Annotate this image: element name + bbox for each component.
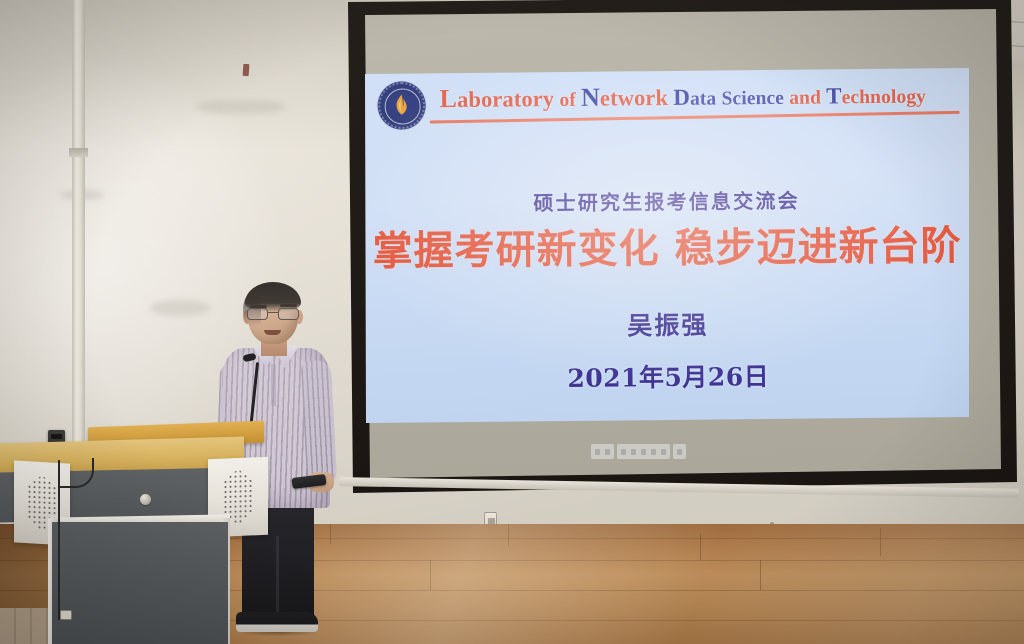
- podium-lock-knob[interactable]: [140, 494, 151, 505]
- podium-cable: [58, 460, 100, 620]
- slide-date: 2021年5月26日: [366, 355, 969, 397]
- ppt-toolbar-icon[interactable]: [631, 449, 636, 455]
- ppt-slideshow-toolbar[interactable]: [591, 444, 686, 459]
- ppt-toolbar-icon[interactable]: [641, 449, 646, 455]
- lab-header-word: Data: [673, 85, 716, 111]
- shirt-placket: [271, 364, 276, 406]
- lecture-hall-scene: Laboratory of Network Data Science and T…: [0, 0, 1024, 644]
- ppt-toolbar-icon[interactable]: [661, 449, 666, 455]
- ppt-toolbar-icon[interactable]: [605, 449, 610, 455]
- ppt-toolbar-group[interactable]: [617, 444, 670, 459]
- slide-title: 掌握考研新变化 稳步迈进新台阶: [365, 213, 969, 277]
- wall-red-mark: [243, 64, 250, 76]
- presenter-right-arm: [301, 359, 338, 486]
- presenter-brow-right: [280, 304, 297, 307]
- ppt-toolbar-icon[interactable]: [595, 449, 600, 455]
- conduit-joint: [69, 148, 88, 157]
- projection-screen[interactable]: Laboratory of Network Data Science and T…: [339, 0, 1019, 496]
- glasses-lens-left: [247, 308, 268, 320]
- cable-plug: [60, 610, 72, 620]
- ppt-toolbar-group[interactable]: [591, 444, 614, 459]
- slide-header: Laboratory of Network Data Science and T…: [365, 73, 968, 131]
- university-emblem-icon: [377, 81, 425, 129]
- podium[interactable]: [0, 424, 300, 644]
- wall-smudge: [150, 300, 210, 316]
- lab-header-word: and: [789, 88, 821, 110]
- lab-header-word: of: [559, 90, 576, 112]
- ppt-toolbar-group[interactable]: [673, 444, 686, 459]
- presenter-mouth: [264, 330, 281, 335]
- lab-header-word: Laboratory: [439, 83, 554, 114]
- glasses-bridge: [268, 312, 279, 313]
- ppt-toolbar-icon[interactable]: [677, 449, 682, 455]
- flame-icon: [392, 93, 412, 115]
- eyeglasses-icon: [246, 308, 301, 320]
- glasses-lens-right: [278, 308, 299, 320]
- ppt-toolbar-icon[interactable]: [621, 449, 626, 455]
- slide-subtitle: 硕士研究生报考信息交流会: [365, 183, 969, 218]
- lab-header-text: Laboratory of Network Data Science and T…: [439, 79, 959, 114]
- lab-header-word: Technology: [826, 83, 926, 110]
- lab-header-word: Network: [581, 82, 668, 113]
- projected-slide: Laboratory of Network Data Science and T…: [365, 68, 969, 423]
- wall-smudge: [196, 100, 286, 114]
- wall-conduit-pipe: [72, 0, 85, 470]
- ppt-toolbar-icon[interactable]: [651, 449, 656, 455]
- slide-speaker-name: 吴振强: [366, 303, 969, 345]
- lab-header-word: Science: [721, 88, 784, 111]
